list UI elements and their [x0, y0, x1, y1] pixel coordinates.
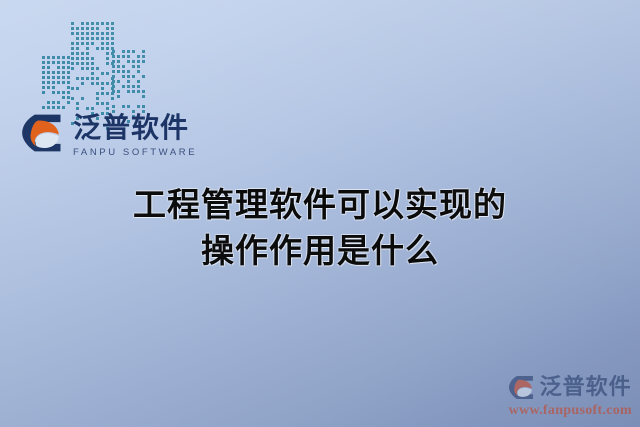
skyline-dot [67, 96, 70, 99]
skyline-dot [91, 62, 94, 65]
skyline-dot [101, 22, 104, 25]
skyline-dot [81, 52, 84, 55]
skyline-dot [71, 77, 74, 80]
skyline-dot [127, 60, 130, 63]
skyline-dot [91, 22, 94, 25]
skyline-dot [81, 97, 84, 100]
skyline-dot [101, 92, 104, 95]
skyline-dot [101, 87, 104, 90]
skyline-dot [96, 32, 99, 35]
skyline-dot [122, 55, 125, 58]
skyline-dot [96, 97, 99, 100]
skyline-dot [96, 92, 99, 95]
skyline-dot [101, 102, 104, 105]
skyline-dot [76, 52, 79, 55]
skyline-dot [91, 72, 94, 75]
skyline-dot [47, 81, 50, 84]
skyline-dot [132, 70, 135, 73]
skyline-dot [106, 47, 109, 50]
skyline-dot [52, 71, 55, 74]
skyline-dot [117, 90, 120, 93]
skyline-building-right [112, 50, 142, 112]
skyline-dot [52, 61, 55, 64]
skyline-dot [47, 106, 50, 109]
skyline-dot [81, 107, 84, 110]
skyline-dot [86, 77, 89, 80]
skyline-dot [101, 42, 104, 45]
skyline-dot [112, 105, 115, 108]
skyline-dot [86, 102, 89, 105]
skyline-dot [71, 52, 74, 55]
skyline-dot [76, 62, 79, 65]
watermark-brand-name: 泛普软件 [540, 377, 632, 399]
skyline-dot [62, 101, 65, 104]
skyline-dot [122, 100, 125, 103]
skyline-dot [71, 37, 74, 40]
skyline-dot [76, 92, 79, 95]
skyline-dot [57, 106, 60, 109]
skyline-dot [132, 80, 135, 83]
skyline-dot [52, 86, 55, 89]
skyline-dot [91, 57, 94, 60]
brand-name-cn: 泛普软件 [73, 114, 197, 142]
watermark: 泛普软件 www.fanpusoft.com [509, 375, 632, 419]
skyline-dot [67, 101, 70, 104]
skyline-dot [47, 101, 50, 104]
skyline-dot [106, 92, 109, 95]
skyline-dot [142, 75, 145, 78]
skyline-dot [101, 72, 104, 75]
skyline-dot [76, 42, 79, 45]
skyline-dot [91, 27, 94, 30]
skyline-dot [47, 56, 50, 59]
skyline-dot [106, 102, 109, 105]
skyline-dot [117, 60, 120, 63]
skyline-dot [122, 95, 125, 98]
skyline-dot [101, 77, 104, 80]
skyline-dot [91, 102, 94, 105]
skyline-dot [67, 86, 70, 89]
skyline-dot [71, 42, 74, 45]
skyline-dot [142, 105, 145, 108]
skyline-dot [112, 95, 115, 98]
skyline-dot [137, 105, 140, 108]
skyline-dot [106, 77, 109, 80]
skyline-dot [112, 55, 115, 58]
skyline-dot [101, 57, 104, 60]
skyline-dot [86, 97, 89, 100]
watermark-url: www.fanpusoft.com [509, 403, 632, 419]
skyline-dot [127, 100, 130, 103]
skyline-dot [96, 107, 99, 110]
skyline-dot [57, 56, 60, 59]
skyline-dot [57, 91, 60, 94]
skyline-dot [137, 55, 140, 58]
skyline-dot [122, 70, 125, 73]
skyline-dot [76, 77, 79, 80]
skyline-dot [137, 80, 140, 83]
skyline-dot [81, 77, 84, 80]
skyline-dot [96, 27, 99, 30]
skyline-dot [117, 105, 120, 108]
skyline-dot [106, 107, 109, 110]
skyline-dot [142, 60, 145, 63]
brand-text-block: 泛普软件 FANPU SOFTWARE [73, 113, 197, 158]
skyline-dot [122, 90, 125, 93]
skyline-dot [112, 85, 115, 88]
skyline-dot [122, 85, 125, 88]
skyline-dot [106, 32, 109, 35]
skyline-dot [57, 61, 60, 64]
skyline-dot [142, 65, 145, 68]
skyline-dot [71, 92, 74, 95]
skyline-dot [67, 106, 70, 109]
skyline-dot [47, 91, 50, 94]
skyline-dot [112, 90, 115, 93]
skyline-dot [42, 81, 45, 84]
skyline-dot [142, 95, 145, 98]
skyline-dot [132, 50, 135, 53]
skyline-dot [91, 32, 94, 35]
skyline-dot [112, 65, 115, 68]
skyline-dot [142, 70, 145, 73]
skyline-dot [101, 62, 104, 65]
skyline-dot [86, 67, 89, 70]
skyline-dot [42, 86, 45, 89]
skyline-dot [112, 60, 115, 63]
skyline-dot [106, 82, 109, 85]
skyline-dot [101, 107, 104, 110]
skyline-dot [81, 92, 84, 95]
skyline-dot [81, 22, 84, 25]
skyline-dot [42, 91, 45, 94]
skyline-dot [71, 57, 74, 60]
skyline-dot [42, 106, 45, 109]
skyline-dot [81, 32, 84, 35]
skyline-dot [117, 80, 120, 83]
skyline-dot [91, 77, 94, 80]
skyline-dot [127, 50, 130, 53]
skyline-dot [137, 85, 140, 88]
brand-logo: 泛普软件 FANPU SOFTWARE [22, 113, 197, 158]
brand-name-en: FANPU SOFTWARE [73, 147, 197, 158]
skyline-dot [57, 101, 60, 104]
skyline-dot [127, 105, 130, 108]
skyline-dot [71, 72, 74, 75]
skyline-dot [122, 105, 125, 108]
skyline-dot [91, 42, 94, 45]
skyline-dot [96, 52, 99, 55]
skyline-dot [111, 32, 114, 35]
skyline-dot [81, 62, 84, 65]
skyline-dot [71, 27, 74, 30]
skyline-dot [76, 102, 79, 105]
skyline-dot [106, 57, 109, 60]
skyline-dot [71, 32, 74, 35]
skyline-dot [52, 101, 55, 104]
skyline-dot [117, 95, 120, 98]
skyline-dot [91, 47, 94, 50]
skyline-dot [106, 22, 109, 25]
skyline-dot [127, 95, 130, 98]
fanpu-logo-icon [22, 113, 64, 153]
skyline-dot [137, 65, 140, 68]
skyline-dot [127, 75, 130, 78]
skyline-dot [122, 75, 125, 78]
skyline-dot [86, 72, 89, 75]
skyline-dot [117, 70, 120, 73]
skyline-dot [91, 92, 94, 95]
skyline-dot [62, 106, 65, 109]
page-title-line-2: 操作作用是什么 [0, 228, 640, 274]
skyline-dot [57, 86, 60, 89]
skyline-dot [106, 87, 109, 90]
skyline-dot [42, 101, 45, 104]
skyline-dot [101, 32, 104, 35]
skyline-dot [76, 97, 79, 100]
skyline-dot [62, 71, 65, 74]
skyline-dot [62, 96, 65, 99]
skyline-dot [106, 72, 109, 75]
city-skyline-graphic [42, 20, 142, 112]
skyline-dot [132, 90, 135, 93]
skyline-dot [91, 37, 94, 40]
skyline-dot [96, 72, 99, 75]
skyline-dot [142, 55, 145, 58]
skyline-dot [71, 47, 74, 50]
page-title-line-1: 工程管理软件可以实现的 [0, 182, 640, 228]
skyline-dot [127, 65, 130, 68]
skyline-dot [91, 107, 94, 110]
skyline-dot [91, 97, 94, 100]
fanpu-watermark-logo-icon [509, 375, 535, 400]
skyline-dot [106, 97, 109, 100]
skyline-dot [71, 67, 74, 70]
skyline-dot [67, 56, 70, 59]
skyline-dot [86, 27, 89, 30]
skyline-dot [127, 70, 130, 73]
skyline-dot [101, 97, 104, 100]
skyline-dot [47, 76, 50, 79]
skyline-dot [47, 96, 50, 99]
skyline-dot [47, 86, 50, 89]
skyline-dot [86, 37, 89, 40]
skyline-dot [96, 87, 99, 90]
skyline-dot [57, 66, 60, 69]
skyline-dot [57, 96, 60, 99]
skyline-dot [52, 76, 55, 79]
skyline-dot [62, 61, 65, 64]
skyline-dot [76, 107, 79, 110]
skyline-dot [42, 96, 45, 99]
skyline-dot [62, 76, 65, 79]
skyline-dot [137, 50, 140, 53]
skyline-dot [142, 80, 145, 83]
skyline-dot [91, 67, 94, 70]
skyline-dot [62, 81, 65, 84]
skyline-dot [81, 37, 84, 40]
skyline-dot [142, 85, 145, 88]
skyline-dot [81, 67, 84, 70]
skyline-dot [52, 81, 55, 84]
skyline-dot [117, 55, 120, 58]
skyline-dot [132, 75, 135, 78]
skyline-dot [81, 72, 84, 75]
skyline-dot [91, 52, 94, 55]
skyline-dot [71, 102, 74, 105]
skyline-dot [96, 57, 99, 60]
skyline-dot [142, 50, 145, 53]
skyline-dot [76, 82, 79, 85]
skyline-dot [111, 27, 114, 30]
skyline-dot [81, 42, 84, 45]
skyline-dot [117, 50, 120, 53]
skyline-dot [67, 91, 70, 94]
skyline-dot [71, 62, 74, 65]
skyline-building-middle [71, 22, 109, 112]
skyline-dot [52, 96, 55, 99]
skyline-dot [96, 82, 99, 85]
skyline-dot [42, 66, 45, 69]
skyline-dot [76, 57, 79, 60]
skyline-dot [86, 52, 89, 55]
skyline-dot [52, 56, 55, 59]
watermark-brand-row: 泛普软件 [509, 375, 632, 400]
skyline-dot [132, 95, 135, 98]
skyline-dot [86, 107, 89, 110]
skyline-dot [86, 42, 89, 45]
skyline-dot [62, 86, 65, 89]
skyline-dot [111, 42, 114, 45]
skyline-dot [71, 97, 74, 100]
skyline-dot [117, 100, 120, 103]
skyline-dot [132, 85, 135, 88]
skyline-dot [127, 80, 130, 83]
skyline-dot [137, 60, 140, 63]
skyline-dot [52, 66, 55, 69]
skyline-dot [96, 37, 99, 40]
skyline-dot [112, 70, 115, 73]
skyline-dot [142, 90, 145, 93]
skyline-dot [81, 27, 84, 30]
skyline-dot [112, 50, 115, 53]
skyline-dot [106, 27, 109, 30]
skyline-dot [96, 62, 99, 65]
skyline-dot [76, 47, 79, 50]
skyline-dot [96, 102, 99, 105]
skyline-dot [101, 27, 104, 30]
skyline-dot [86, 92, 89, 95]
skyline-dot [57, 81, 60, 84]
skyline-dot [101, 47, 104, 50]
skyline-dot [122, 60, 125, 63]
skyline-dot [81, 82, 84, 85]
skyline-dot [47, 71, 50, 74]
skyline-dot [112, 80, 115, 83]
skyline-dot [86, 57, 89, 60]
skyline-dot [86, 32, 89, 35]
skyline-dot [52, 91, 55, 94]
skyline-dot [137, 70, 140, 73]
skyline-dot [71, 87, 74, 90]
skyline-dot [86, 82, 89, 85]
poster-canvas: 泛普软件 FANPU SOFTWARE 工程管理软件可以实现的 操作作用是什么 … [0, 0, 640, 427]
skyline-dot [76, 32, 79, 35]
skyline-dot [101, 37, 104, 40]
skyline-dot [137, 95, 140, 98]
skyline-dot [132, 60, 135, 63]
page-title: 工程管理软件可以实现的 操作作用是什么 [0, 182, 640, 273]
skyline-dot [111, 37, 114, 40]
skyline-dot [57, 71, 60, 74]
skyline-dot [106, 37, 109, 40]
skyline-dot [62, 66, 65, 69]
skyline-dot [137, 75, 140, 78]
skyline-dot [71, 82, 74, 85]
skyline-dot [57, 76, 60, 79]
skyline-dot [81, 57, 84, 60]
skyline-dot [112, 75, 115, 78]
skyline-dot [91, 87, 94, 90]
skyline-dot [42, 76, 45, 79]
skyline-dot [101, 82, 104, 85]
skyline-dot [76, 22, 79, 25]
skyline-dot [132, 55, 135, 58]
skyline-dot [42, 71, 45, 74]
skyline-dot [67, 76, 70, 79]
skyline-dot [106, 42, 109, 45]
skyline-dot [81, 47, 84, 50]
skyline-dot [137, 90, 140, 93]
skyline-dot [81, 87, 84, 90]
skyline-building-left [42, 56, 68, 112]
skyline-dot [76, 67, 79, 70]
skyline-dot [42, 56, 45, 59]
skyline-dot [122, 80, 125, 83]
skyline-dot [127, 90, 130, 93]
skyline-dot [76, 72, 79, 75]
skyline-dot [137, 100, 140, 103]
skyline-dot [96, 47, 99, 50]
skyline-dot [117, 85, 120, 88]
skyline-dot [47, 66, 50, 69]
skyline-dot [67, 71, 70, 74]
skyline-dot [122, 65, 125, 68]
skyline-dot [96, 67, 99, 70]
skyline-dot [112, 100, 115, 103]
skyline-dot [111, 22, 114, 25]
skyline-dot [117, 75, 120, 78]
skyline-dot [127, 55, 130, 58]
skyline-dot [106, 62, 109, 65]
skyline-dot [76, 37, 79, 40]
skyline-dot [52, 106, 55, 109]
skyline-dot [86, 62, 89, 65]
skyline-dot [86, 87, 89, 90]
skyline-dot [127, 85, 130, 88]
skyline-dot [86, 22, 89, 25]
skyline-dot [142, 100, 145, 103]
skyline-dot [106, 52, 109, 55]
skyline-dot [42, 61, 45, 64]
skyline-dot [62, 91, 65, 94]
skyline-dot [86, 47, 89, 50]
skyline-dot [101, 52, 104, 55]
skyline-dot [96, 42, 99, 45]
skyline-dot [132, 105, 135, 108]
skyline-dot [117, 65, 120, 68]
skyline-dot [76, 27, 79, 30]
